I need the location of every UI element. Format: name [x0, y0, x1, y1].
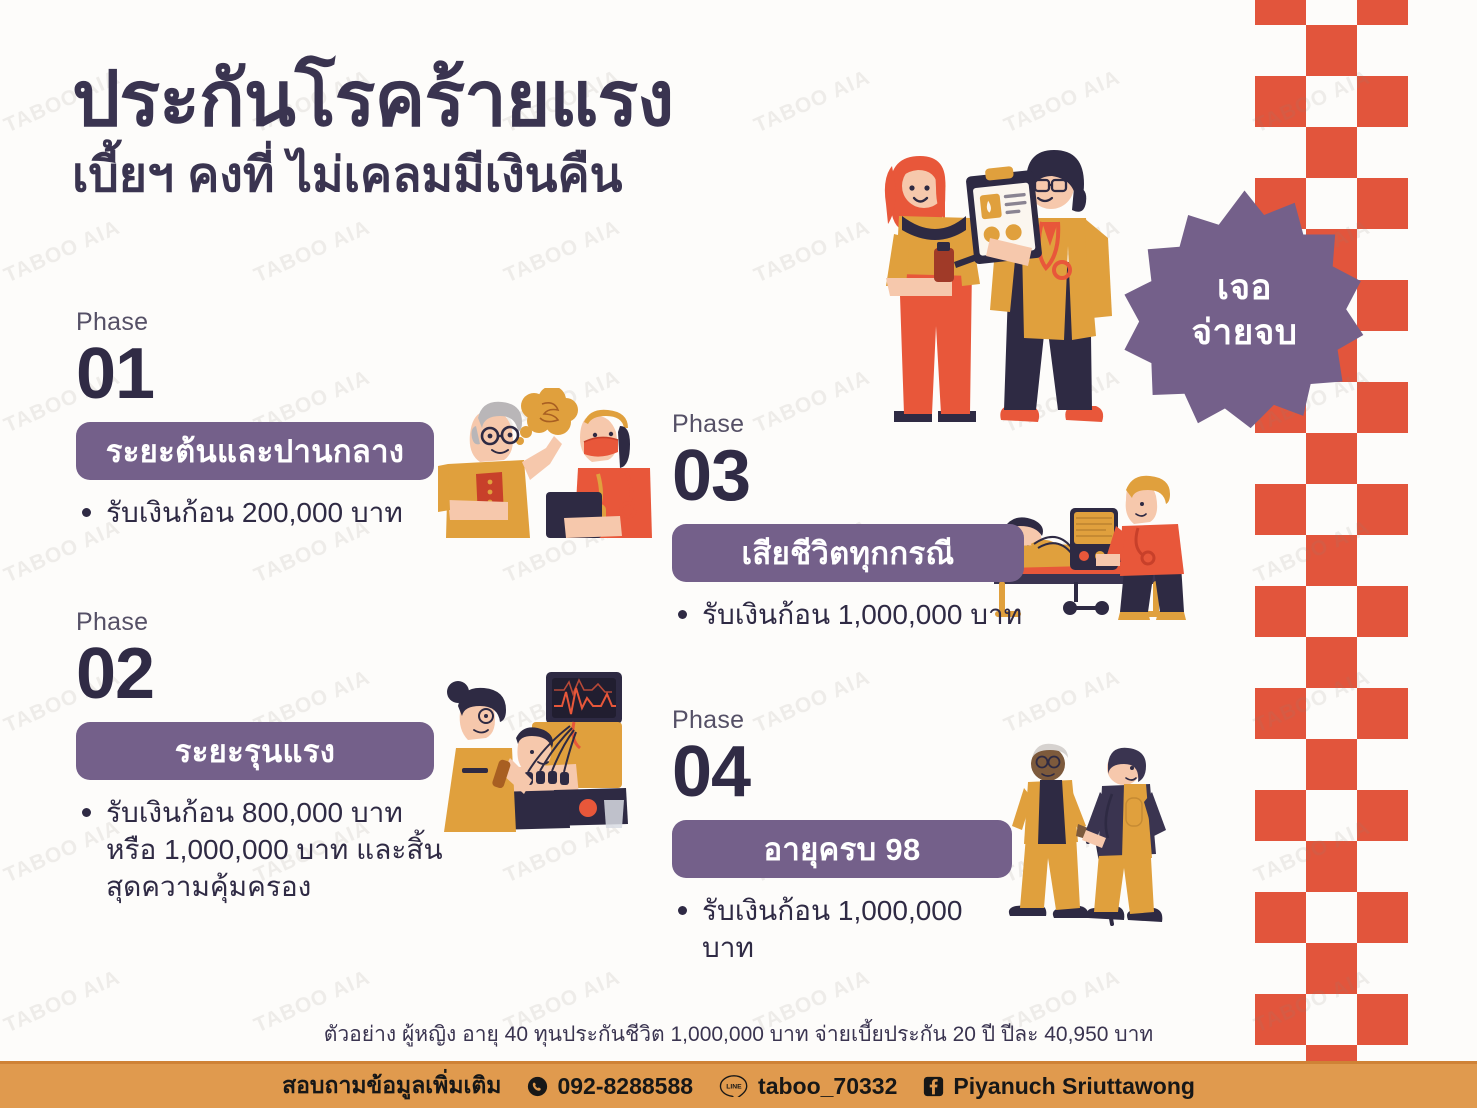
phase-bullets-03: รับเงินก้อน 1,000,000 บาท [672, 596, 1024, 633]
facebook-icon [923, 1076, 944, 1097]
elderly-couple-walking-illustration [1000, 738, 1180, 928]
contact-bar: สอบถามข้อมูลเพิ่มเติม 092-8288588 LINE t… [0, 1061, 1477, 1108]
phase-number-02: 02 [76, 639, 446, 710]
phase-block-03: Phase 03 เสียชีวิตทุกกรณี รับเงินก้อน 1,… [672, 410, 1024, 633]
checker-square [1306, 127, 1357, 178]
badge-text: เจอ จ่ายจบ [1122, 188, 1367, 433]
phase-pill-01: ระยะต้นและปานกลาง [76, 422, 434, 480]
phase-bullets-04: รับเงินก้อน 1,000,000 บาท [672, 892, 1012, 966]
checker-square [1255, 586, 1306, 637]
phase-label-01: Phase [76, 308, 446, 337]
phase-bullets-02: รับเงินก้อน 800,000 บาท หรือ 1,000,000 บ… [76, 794, 446, 906]
checker-square [1357, 76, 1408, 127]
checker-square [1255, 0, 1306, 25]
phase-pill-03: เสียชีวิตทุกกรณี [672, 524, 1024, 582]
doctor-with-clipboard-and-patient-illustration [846, 126, 1136, 436]
infographic-canvas: ประกันโรคร้ายแรง เบี้ยฯ คงที่ ไม่เคลมมีเ… [0, 0, 1477, 1108]
watermark-text: TABOO AIA [1, 216, 124, 289]
header-block: ประกันโรคร้ายแรง เบี้ยฯ คงที่ ไม่เคลมมีเ… [72, 62, 673, 200]
phase-number-01: 01 [76, 339, 446, 410]
checker-square [1306, 943, 1357, 994]
line-icon: LINE [719, 1075, 749, 1097]
checker-square [1357, 586, 1408, 637]
checker-square [1306, 25, 1357, 76]
phone-contact[interactable]: 092-8288588 [527, 1073, 693, 1100]
checker-square [1357, 688, 1408, 739]
checker-square [1306, 433, 1357, 484]
phase-block-02: Phase 02 ระยะรุนแรง รับเงินก้อน 800,000 … [76, 608, 446, 905]
facebook-name: Piyanuch Sriuttawong [953, 1073, 1195, 1100]
phase-pill-04: อายุครบ 98 [672, 820, 1012, 878]
svg-text:LINE: LINE [726, 1084, 742, 1091]
phone-icon [527, 1076, 548, 1097]
checker-square [1357, 484, 1408, 535]
patient-on-ecg-monitor-illustration [428, 672, 638, 832]
bullet-item: รับเงินก้อน 1,000,000 บาท [672, 596, 1024, 633]
checker-square [1255, 790, 1306, 841]
checkerboard-pattern [1255, 0, 1412, 1108]
starburst-badge: เจอ จ่ายจบ [1122, 188, 1367, 433]
watermark-text: TABOO AIA [251, 216, 374, 289]
checker-square [1306, 841, 1357, 892]
watermark-text: TABOO AIA [1001, 666, 1124, 739]
checker-square [1306, 739, 1357, 790]
phase-label-03: Phase [672, 410, 1024, 439]
phase-number-04: 04 [672, 737, 1012, 808]
checker-square [1306, 535, 1357, 586]
phase-bullets-01: รับเงินก้อน 200,000 บาท [76, 494, 446, 531]
checker-square [1255, 76, 1306, 127]
checker-square [1357, 790, 1408, 841]
bullet-item: รับเงินก้อน 800,000 บาท หรือ 1,000,000 บ… [76, 794, 446, 906]
phase-block-01: Phase 01 ระยะต้นและปานกลาง รับเงินก้อน 2… [76, 308, 446, 531]
phase-number-03: 03 [672, 441, 1024, 512]
checker-square [1306, 637, 1357, 688]
checker-square [1255, 484, 1306, 535]
line-id: taboo_70332 [758, 1073, 897, 1100]
phase-block-04: Phase 04 อายุครบ 98 รับเงินก้อน 1,000,00… [672, 706, 1012, 966]
checker-square [1255, 688, 1306, 739]
bullet-item: รับเงินก้อน 200,000 บาท [76, 494, 446, 531]
contact-intro: สอบถามข้อมูลเพิ่มเติม [282, 1068, 501, 1104]
checker-square [1255, 892, 1306, 943]
footnote-text: ตัวอย่าง ผู้หญิง อายุ 40 ทุนประกันชีวิต … [0, 1018, 1477, 1051]
watermark-text: TABOO AIA [501, 216, 624, 289]
checker-square [1357, 0, 1408, 25]
phase-label-02: Phase [76, 608, 446, 637]
checker-square [1357, 892, 1408, 943]
elderly-patient-and-nurse-illustration [438, 388, 658, 538]
bullet-item: รับเงินก้อน 1,000,000 บาท [672, 892, 1012, 966]
page-title: ประกันโรคร้ายแรง [72, 62, 673, 138]
badge-line-2: จ่ายจบ [1192, 311, 1298, 356]
phone-number: 092-8288588 [557, 1073, 693, 1100]
phase-label-04: Phase [672, 706, 1012, 735]
phase-pill-02: ระยะรุนแรง [76, 722, 434, 780]
line-contact[interactable]: LINE taboo_70332 [719, 1073, 897, 1100]
badge-line-1: เจอ [1217, 266, 1272, 311]
facebook-contact[interactable]: Piyanuch Sriuttawong [923, 1073, 1195, 1100]
page-subtitle: เบี้ยฯ คงที่ ไม่เคลมมีเงินคืน [72, 152, 673, 200]
